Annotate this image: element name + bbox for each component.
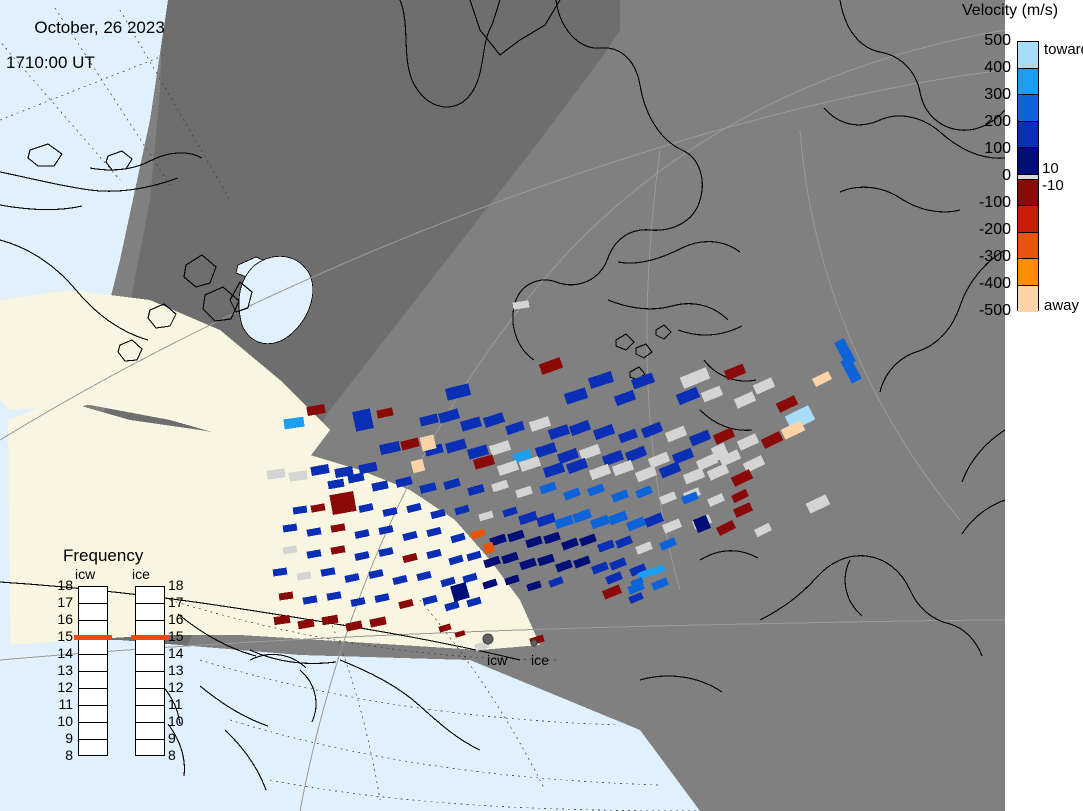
radar-site-marker-icw xyxy=(483,634,493,644)
frequency-tick-right-18: 18 xyxy=(168,577,190,593)
frequency-tick-left-16: 16 xyxy=(51,611,73,627)
frequency-tick-right-15: 15 xyxy=(168,628,190,644)
frequency-segment xyxy=(79,689,107,706)
frequency-segment xyxy=(79,672,107,689)
frequency-column-label-ice: ice xyxy=(132,566,150,582)
frequency-tick-left-18: 18 xyxy=(51,577,73,593)
frequency-tick-left-15: 15 xyxy=(51,628,73,644)
frequency-tick-right-14: 14 xyxy=(168,645,190,661)
radar-site-marker-ice xyxy=(531,640,537,646)
frequency-tick-right-9: 9 xyxy=(168,730,190,746)
title-time: 1710:00 UT xyxy=(6,54,165,71)
frequency-tick-right-17: 17 xyxy=(168,594,190,610)
frequency-column-label-icw: icw xyxy=(75,566,95,582)
frequency-tick-right-16: 16 xyxy=(168,611,190,627)
map-panel[interactable]: October, 26 2023 1710:00 UT icw ice Freq… xyxy=(0,0,1005,811)
frequency-tick-right-12: 12 xyxy=(168,679,190,695)
frequency-tick-left-11: 11 xyxy=(51,696,73,712)
frequency-tick-right-11: 11 xyxy=(168,696,190,712)
page-title: October, 26 2023 1710:00 UT xyxy=(6,2,165,105)
frequency-segment xyxy=(136,604,164,621)
frequency-tick-left-9: 9 xyxy=(51,730,73,746)
frequency-segment xyxy=(136,723,164,740)
frequency-tick-right-13: 13 xyxy=(168,662,190,678)
frequency-segment xyxy=(136,740,164,757)
superdarn-fan-plot: October, 26 2023 1710:00 UT icw ice Freq… xyxy=(0,0,1083,811)
frequency-bar-icw xyxy=(78,586,108,756)
frequency-bar-ice xyxy=(135,586,165,756)
frequency-segment xyxy=(79,740,107,757)
frequency-segment xyxy=(136,706,164,723)
frequency-tick-left-8: 8 xyxy=(51,747,73,763)
frequency-tick-left-14: 14 xyxy=(51,645,73,661)
frequency-legend: Frequency icw ice 1818171716161515141413… xyxy=(55,546,245,768)
frequency-tick-left-10: 10 xyxy=(51,713,73,729)
frequency-segment xyxy=(79,604,107,621)
frequency-legend-title: Frequency xyxy=(63,546,143,566)
frequency-segment xyxy=(136,689,164,706)
frequency-marker-ice xyxy=(131,635,169,640)
frequency-tick-right-8: 8 xyxy=(168,747,190,763)
frequency-segment xyxy=(79,638,107,655)
frequency-segment xyxy=(136,655,164,672)
frequency-segment xyxy=(136,587,164,604)
frequency-segment xyxy=(136,672,164,689)
frequency-segment xyxy=(79,655,107,672)
frequency-segment xyxy=(79,587,107,604)
colorbar-panel xyxy=(1005,0,1083,811)
frequency-segment xyxy=(79,706,107,723)
frequency-tick-right-10: 10 xyxy=(168,713,190,729)
frequency-segment xyxy=(136,638,164,655)
site-label-icw: icw xyxy=(487,652,507,668)
site-label-ice: ice xyxy=(531,652,549,668)
velocity-cell xyxy=(329,491,356,515)
title-date: October, 26 2023 xyxy=(34,18,164,37)
frequency-segment xyxy=(79,723,107,740)
frequency-tick-left-12: 12 xyxy=(51,679,73,695)
frequency-marker-icw xyxy=(74,635,112,640)
frequency-tick-left-17: 17 xyxy=(51,594,73,610)
frequency-tick-left-13: 13 xyxy=(51,662,73,678)
